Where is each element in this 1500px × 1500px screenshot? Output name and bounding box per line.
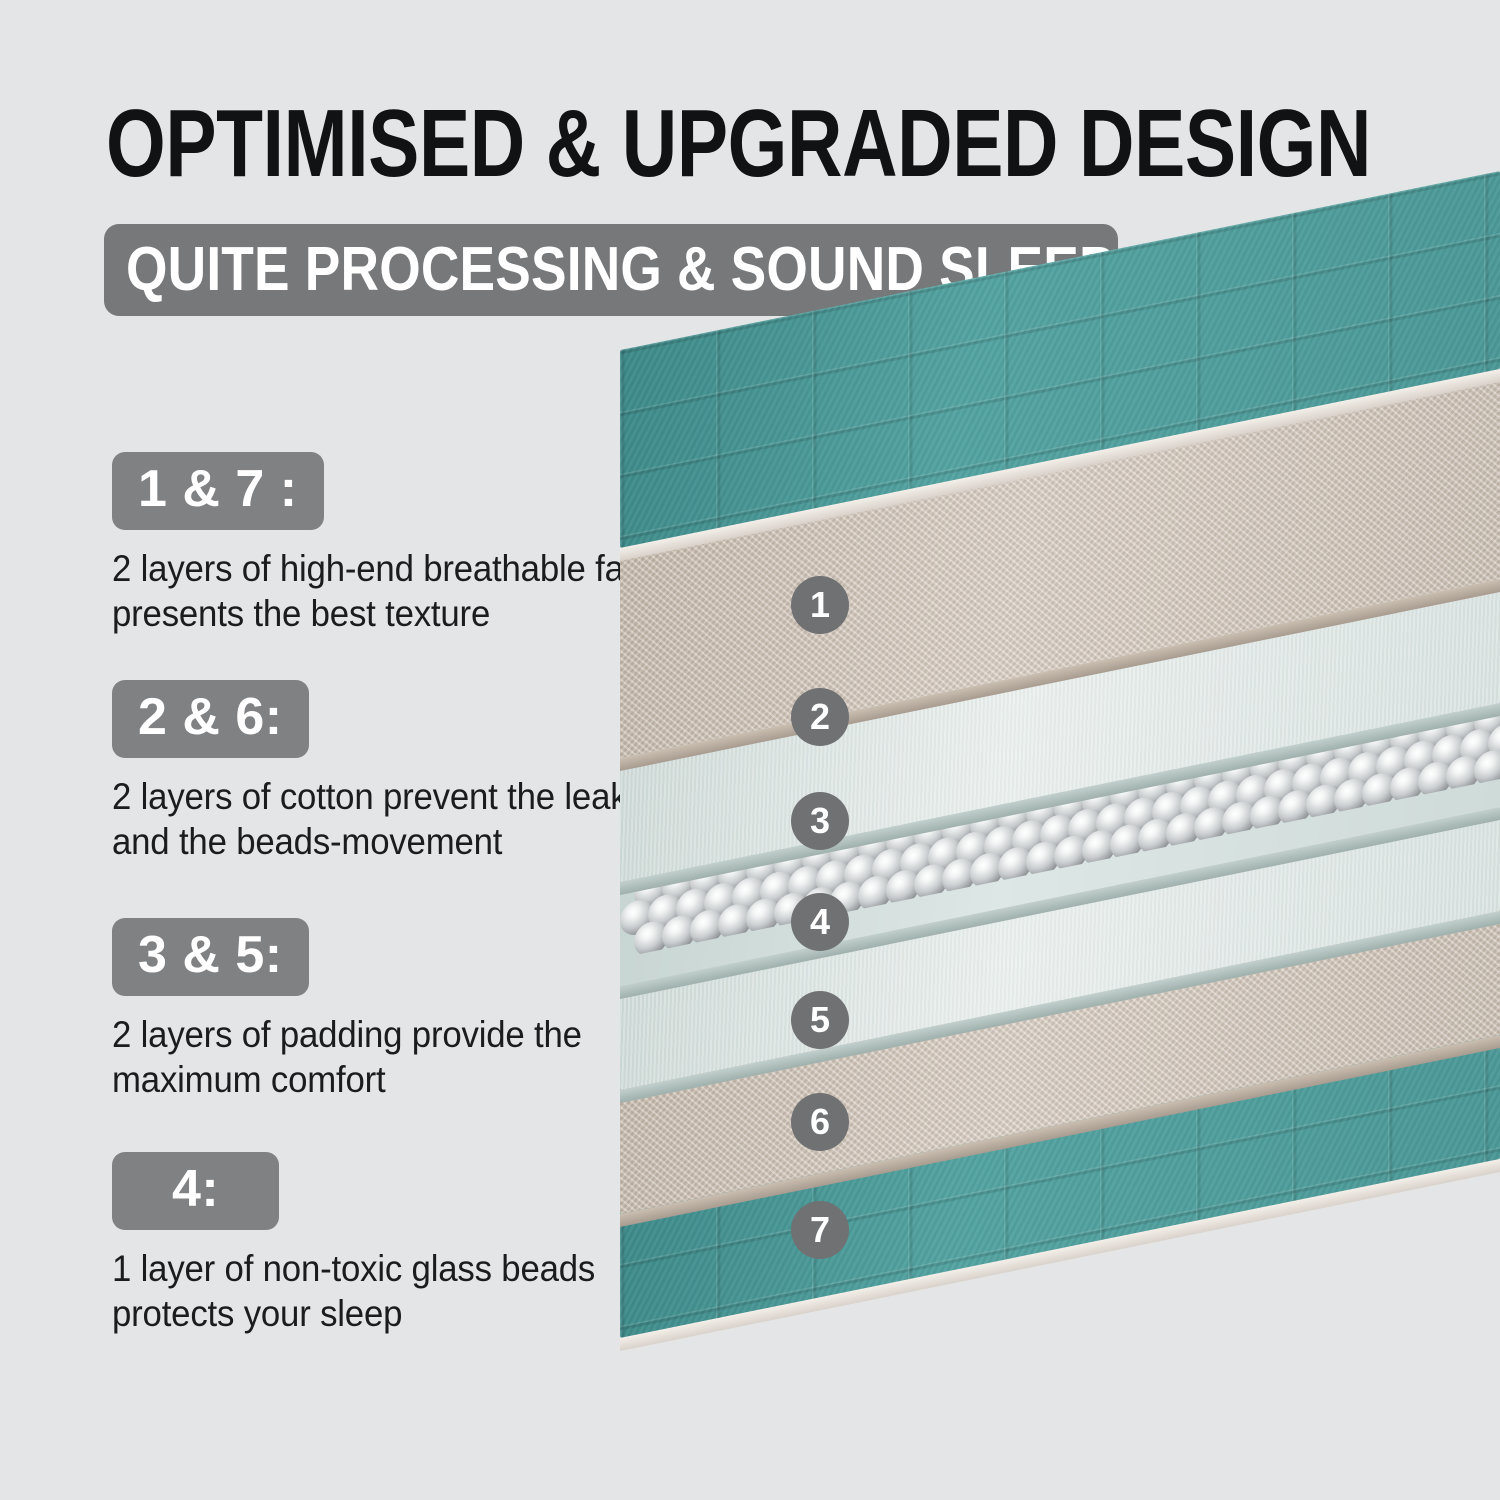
layer-number-badge-7: 7 [791,1201,849,1259]
layer-number-badge-1: 1 [791,576,849,634]
layer-chip-label: 1 & 7 : [138,461,298,517]
page-title: OPTIMISED & UPGRADED DESIGN [106,96,1170,192]
layer-chip-3-and-5: 3 & 5: [112,918,309,996]
layer-chip-4: 4: [112,1152,279,1230]
infographic-page: OPTIMISED & UPGRADED DESIGN QUITE PROCES… [0,0,1500,1500]
layer-chip-1-and-7: 1 & 7 : [112,452,324,530]
layer-chip-label: 3 & 5: [138,927,283,983]
layer-number-badge-3: 3 [791,792,849,850]
layer-chip-label: 4: [172,1161,219,1217]
layer-chip-2-and-6: 2 & 6: [112,680,309,758]
layer-number-badge-6: 6 [791,1093,849,1151]
layer-stack-diagram [620,340,1500,1500]
layer-number-badge-2: 2 [791,688,849,746]
layer-slab-1 [620,350,1500,580]
layer-number-badge-4: 4 [791,893,849,951]
layer-chip-label: 2 & 6: [138,689,283,745]
layer-slab-2 [620,560,1500,790]
layer-number-badge-5: 5 [791,991,849,1049]
